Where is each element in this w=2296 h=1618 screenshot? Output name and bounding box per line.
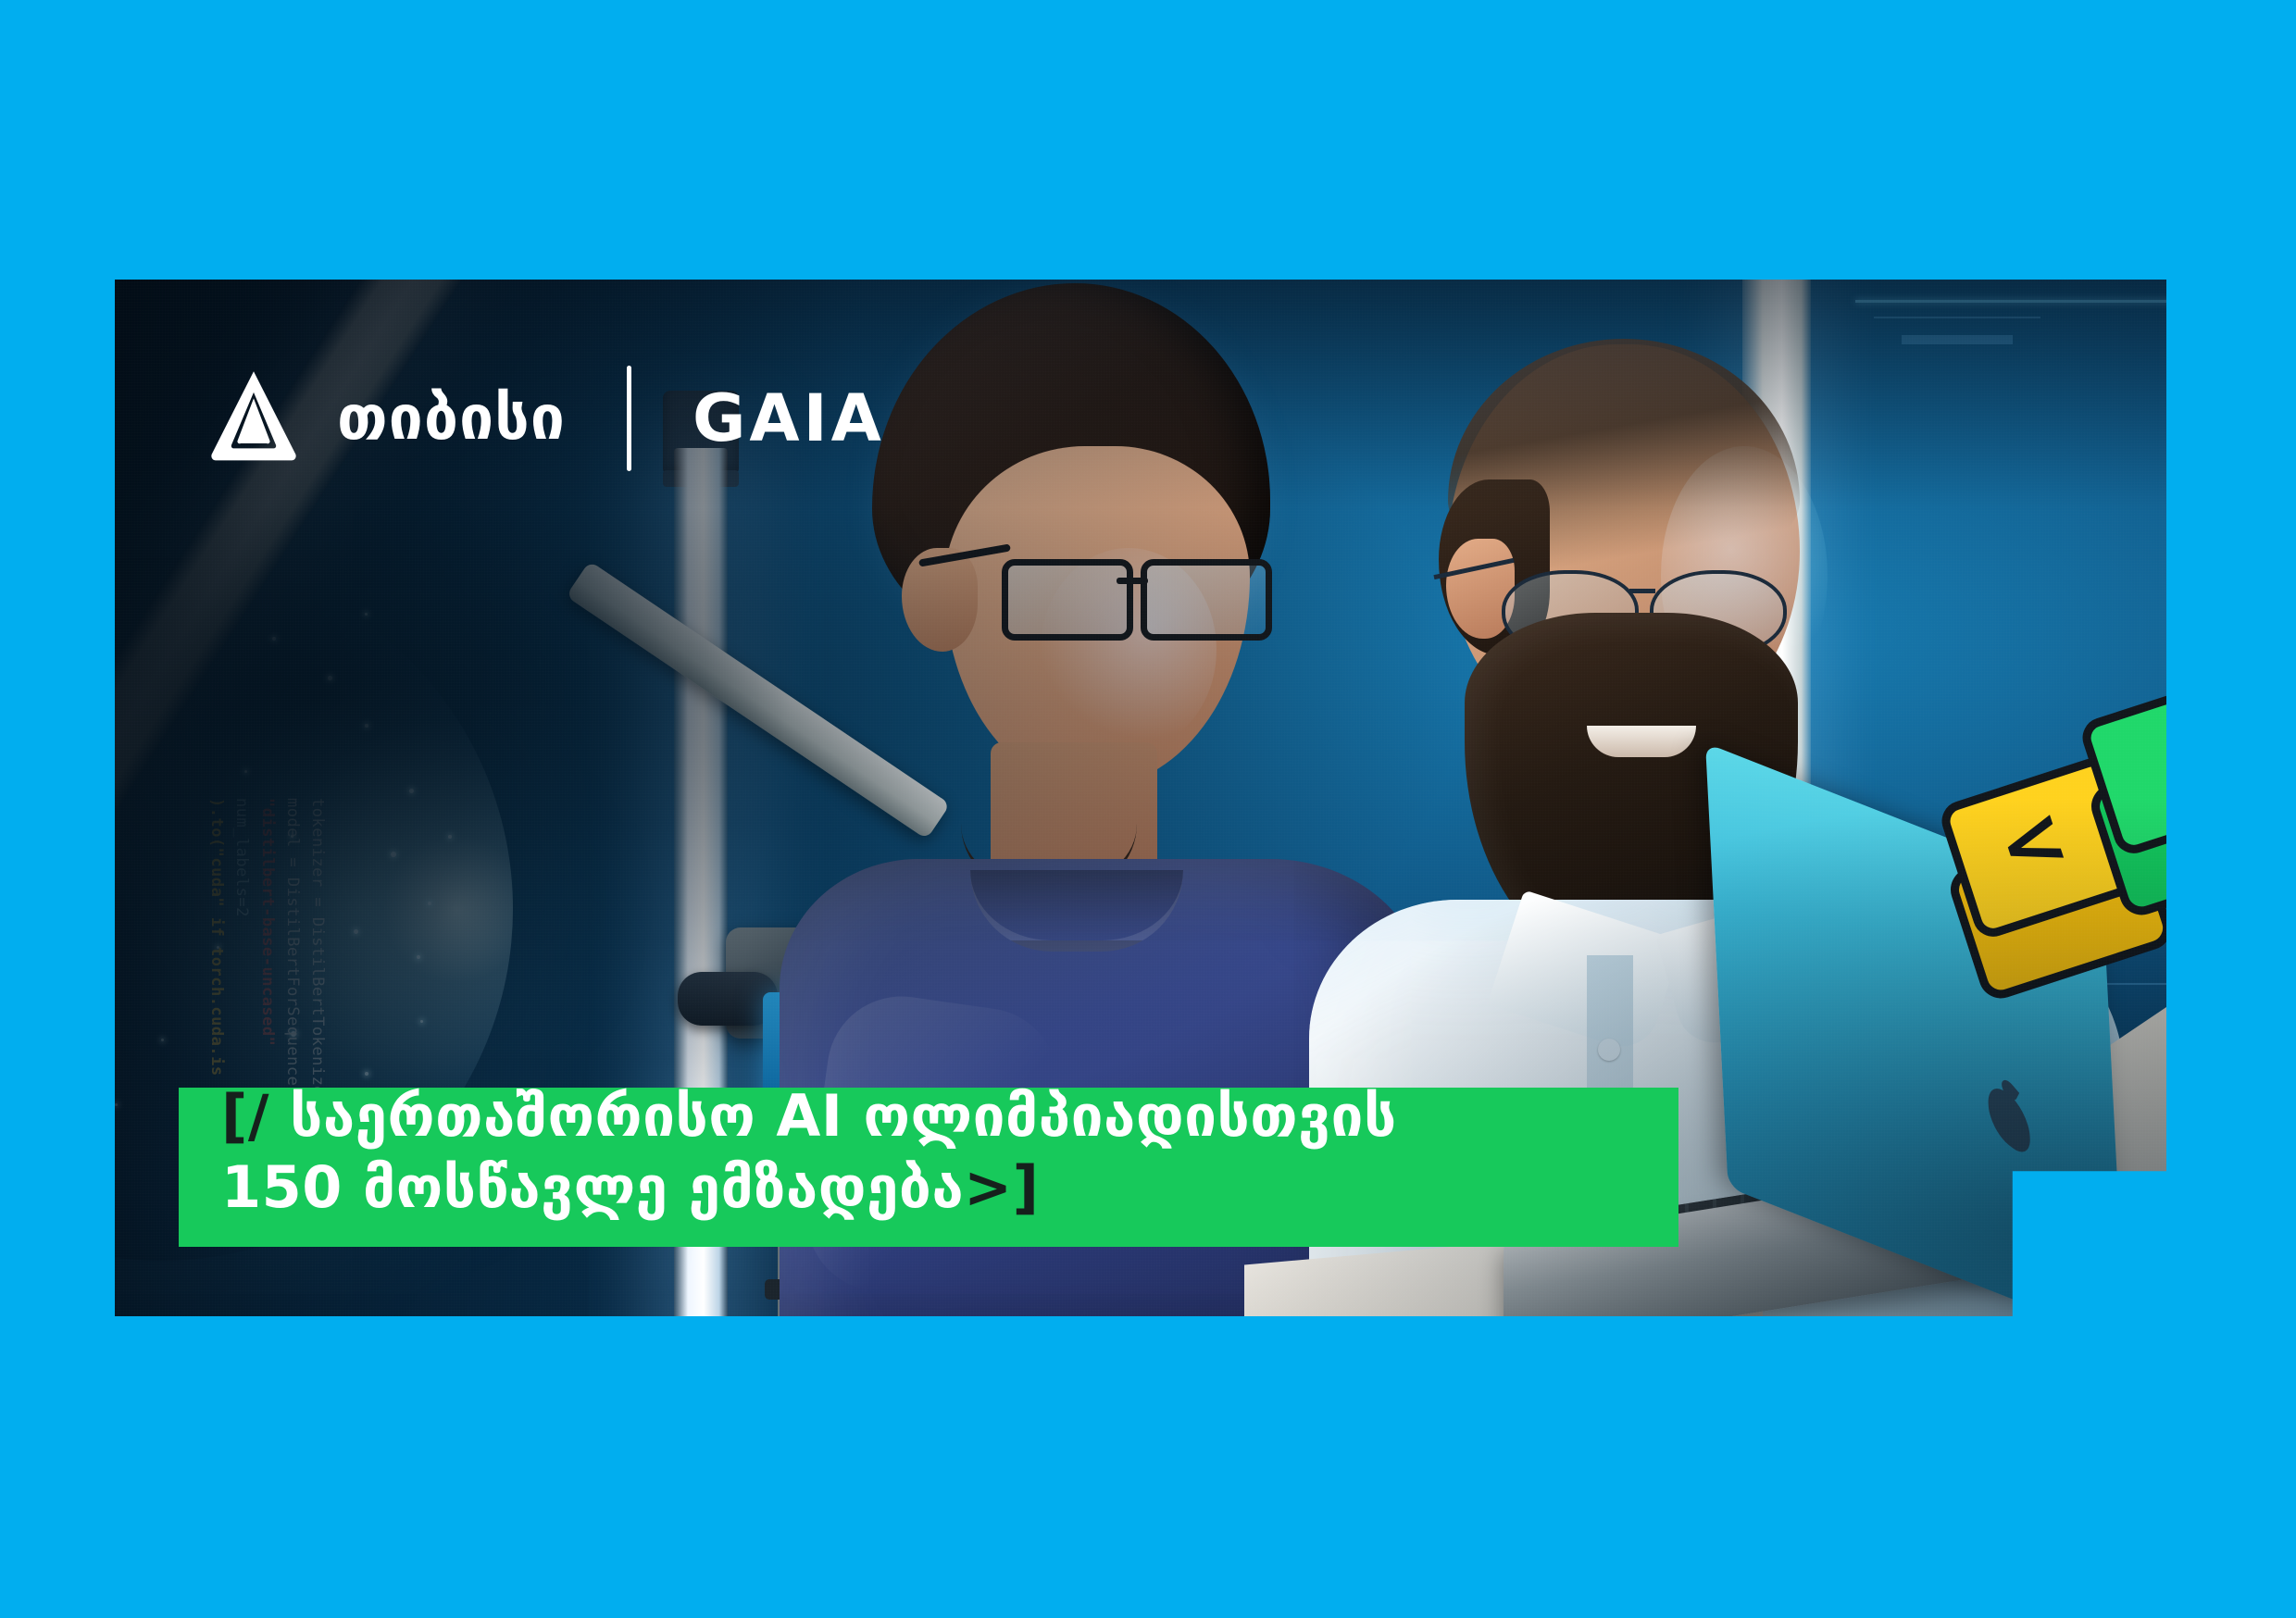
headline-line-2-text: 150 მოსწავლე ემზადება (221, 1153, 964, 1221)
gaia-wordmark: GAIA (693, 386, 885, 451)
headline-line-2: 150 მოსწავლე ემზადება>] (221, 1152, 1660, 1224)
tbc-wordmark: თიბისი (337, 388, 566, 449)
logo-divider (627, 366, 631, 471)
headline-line-1-text: საერთაშორისო AI ოლიმპიადისთვის (290, 1082, 1397, 1150)
headline-text-block: [/ საერთაშორისო AI ოლიმპიადისთვის 150 მო… (221, 1081, 1660, 1224)
hud-line (2022, 1287, 2166, 1288)
gt-glyph: > (964, 1153, 1012, 1221)
tbc-triangle-logo-icon (204, 368, 304, 468)
hud-line (2022, 1224, 2024, 1288)
brand-logo-bar: თიბისი GAIA (204, 363, 885, 474)
open-bracket: [ (221, 1082, 248, 1150)
slash-glyph: / (248, 1082, 269, 1150)
headline-line-1: [/ საერთაშორისო AI ოლიმპიადისთვის (221, 1081, 1660, 1152)
headline-banner: [/ საერთაშორისო AI ოლიმპიადისთვის 150 მო… (179, 1088, 1678, 1247)
close-bracket: ] (1013, 1153, 1040, 1221)
